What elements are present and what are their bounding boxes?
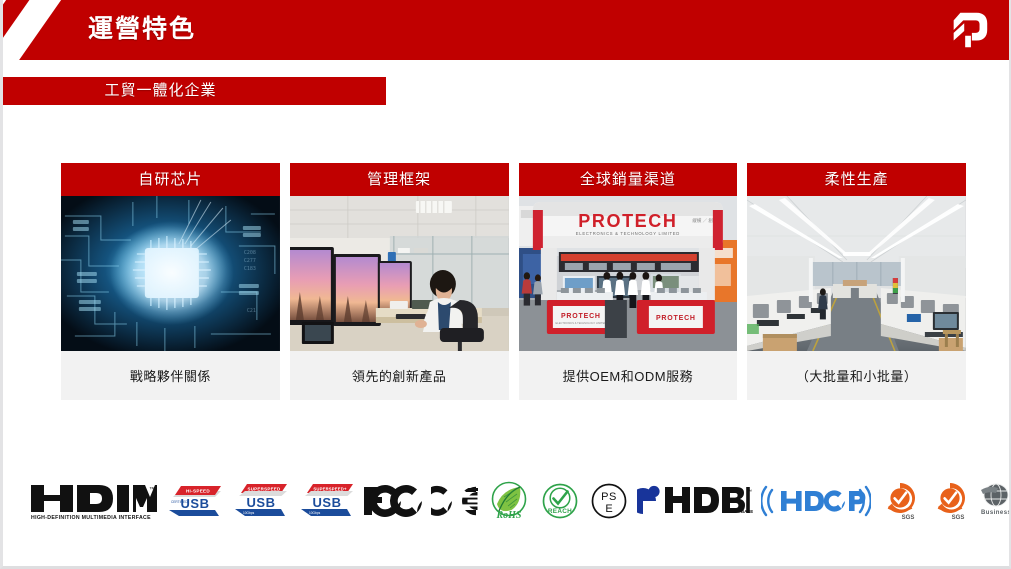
svg-text:SGS: SGS [952,515,965,521]
ce-logo-icon [431,484,479,518]
svg-text:10Gbps: 10Gbps [309,511,321,515]
usb-hispeed-logo-icon: HI-SPEED USB CERTIFIED [165,481,223,521]
card-caption: （大批量和小批量） [747,351,966,400]
card-title: 全球銷量渠道 [519,163,738,196]
svg-text:10Gbps: 10Gbps [243,511,255,515]
header-stripe-2 [3,0,70,60]
booth-subbrand-text: ELECTRONICS & TECHNOLOGY LIMITED [575,231,679,236]
svg-text:PROTECH: PROTECH [560,313,600,320]
card-caption: 提供OEM和ODM服務 [519,351,738,400]
certification-logo-strip: ™ HIGH-DEFINITION MULTIMEDIA INTERFACE H… [29,474,989,528]
svg-text:SUPERSPEED+: SUPERSPEED+ [313,487,347,492]
svg-text:PROTECH: PROTECH [655,315,695,322]
reach-logo-icon: REACH [539,482,581,520]
feature-card[interactable]: 柔性生產 [747,163,966,400]
hdcp-logo-icon [761,484,871,518]
svg-text:REACH: REACH [548,508,572,515]
feature-card[interactable]: 全球銷量渠道 [519,163,738,400]
card-caption: 領先的創新產品 [290,351,509,400]
hdmi-logo-icon: ™ HIGH-DEFINITION MULTIMEDIA INTERFACE [29,481,157,521]
svg-text:E: E [605,503,612,515]
svg-text:SUPERSPEED: SUPERSPEED [247,487,280,492]
fcc-logo-icon [363,484,423,518]
section-subtitle-bar: 工貿一體化企業 [3,77,386,105]
office-display-testing-photo [290,196,509,351]
svg-text:SGS: SGS [902,515,915,521]
hdmi-tagline: HIGH-DEFINITION MULTIMEDIA INTERFACE [31,515,151,521]
feature-card[interactable]: 自研芯片 [61,163,280,400]
svg-text:ELECTRONICS & TECHNOLOGY LIMIT: ELECTRONICS & TECHNOLOGY LIMITED [555,321,606,325]
rohs-logo-icon: RoHS [487,481,531,521]
usb-superspeed-logo-icon: SUPERSPEED USB 10Gbps [231,481,289,521]
slide-root: 運營特色 工貿一體化企業 自研芯片 [0,0,1011,569]
svg-text:BASE T: BASE T [741,509,753,514]
svg-text:™: ™ [149,486,155,493]
smt-production-line-photo [747,196,966,351]
svg-text:HI-SPEED: HI-SPEED [186,489,210,494]
page-title: 運營特色 [88,13,196,45]
card-title: 管理框架 [290,163,509,196]
svg-text:RoHS: RoHS [495,510,521,521]
pse-logo-icon: PS E [589,482,629,520]
card-caption: 戰略夥伴關係 [61,351,280,400]
feature-card-row: 自研芯片 [61,163,966,400]
svg-text:C183: C183 [244,266,256,272]
section-subtitle-text: 工貿一體化企業 [3,77,386,105]
bsci-logo-icon: BSCI An initiative of the Foreign Trade … [979,480,1011,522]
card-title: 柔性生產 [747,163,966,196]
svg-text:C208: C208 [244,250,256,256]
protech-trade-show-booth-photo: PROTECH ELECTRONICS & TECHNOLOGY LIMITED… [519,196,738,351]
feature-card[interactable]: 管理框架 [290,163,509,400]
sgs-logo-2-icon: SGS [929,480,971,522]
booth-brand-text: PROTECH [578,211,677,231]
svg-text:™: ™ [747,489,752,495]
circuit-board-chip-photo: C208C277 C183C21 [61,196,280,351]
hdbaset-logo-icon: BASE T ™ [637,483,753,519]
svg-text:USB: USB [247,495,276,510]
slide-header: 運營特色 [3,0,1011,60]
svg-text:USB: USB [313,495,342,510]
svg-text:CERTIFIED: CERTIFIED [171,500,188,504]
card-title: 自研芯片 [61,163,280,196]
usb-superspeed-plus-logo-icon: SUPERSPEED+ USB 10Gbps [297,481,355,521]
sgs-logo-1-icon: SGS [879,480,921,522]
svg-text:PS: PS [601,491,617,503]
svg-text:C21: C21 [247,308,256,314]
svg-text:C277: C277 [244,258,256,264]
protech-p-logo-icon [946,7,992,53]
bsci-tagline: Business Social Compliance Initiative [981,510,1011,516]
